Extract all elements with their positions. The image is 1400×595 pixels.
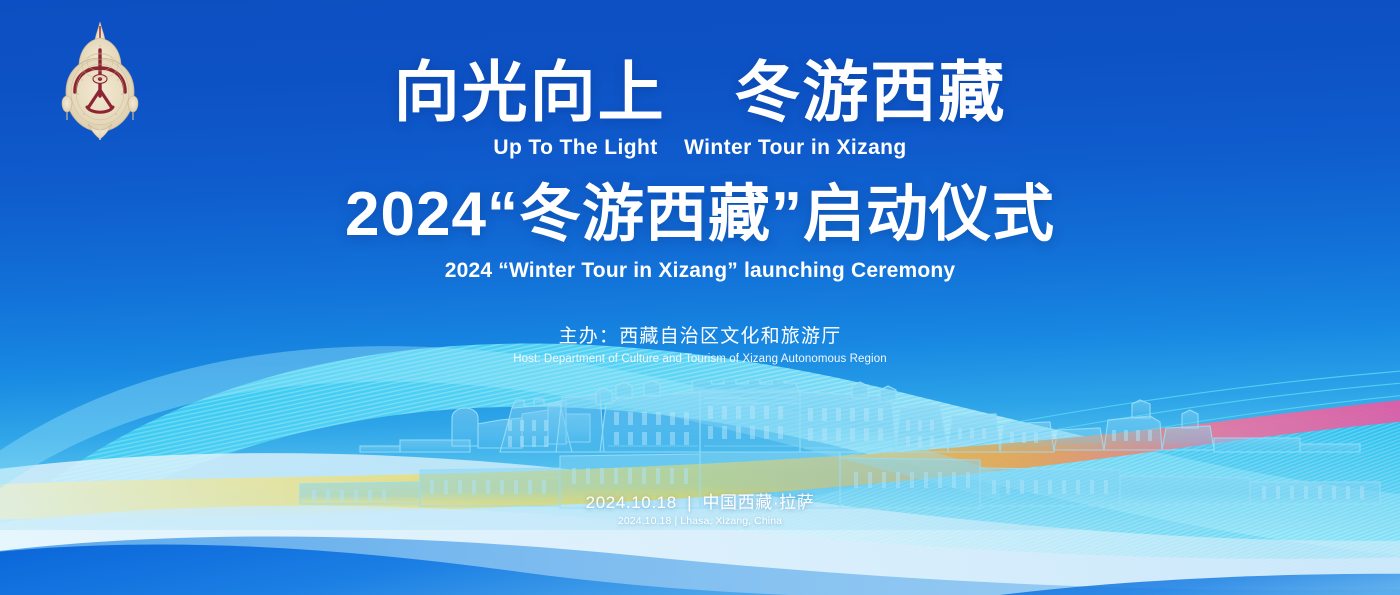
poster-text-block: 向光向上 冬游西藏 Up To The Light Winter Tour in… [0,0,1400,366]
subtitle-en-right: Winter Tour in Xizang [684,136,906,159]
headline-primary-chinese: 向光向上 冬游西藏 [0,58,1400,128]
headline-secondary-english: 2024 “Winter Tour in Xizang” launching C… [0,259,1400,283]
event-date-location-chinese: 2024.10.18 | 中国西藏·拉萨 [0,492,1400,514]
event-separator: | [682,493,697,512]
host-chinese: 主办：西藏自治区文化和旅游厅 [0,325,1400,349]
headline-primary-cn-right: 冬游西藏 [734,55,1006,129]
headline-secondary-chinese: 2024“冬游西藏”启动仪式 [0,182,1400,249]
event-location: 中国西藏·拉萨 [702,493,814,512]
headline-primary-english: Up To The Light Winter Tour in Xizang [0,136,1400,160]
subtitle-en-left: Up To The Light [493,136,657,159]
headline-primary-cn-left: 向光向上 [394,55,666,129]
event-date: 2024.10.18 [586,493,677,512]
event-info-english: 2024.10.18 | Lhasa, Xizang, China [0,515,1400,529]
host-block: 主办：西藏自治区文化和旅游厅 Host: Department of Cultu… [0,325,1400,366]
event-info-block: 2024.10.18 | 中国西藏·拉萨 2024.10.18 | Lhasa,… [0,492,1400,529]
poster-canvas: 向光向上 冬游西藏 Up To The Light Winter Tour in… [0,0,1400,595]
host-english: Host: Department of Culture and Tourism … [0,352,1400,366]
